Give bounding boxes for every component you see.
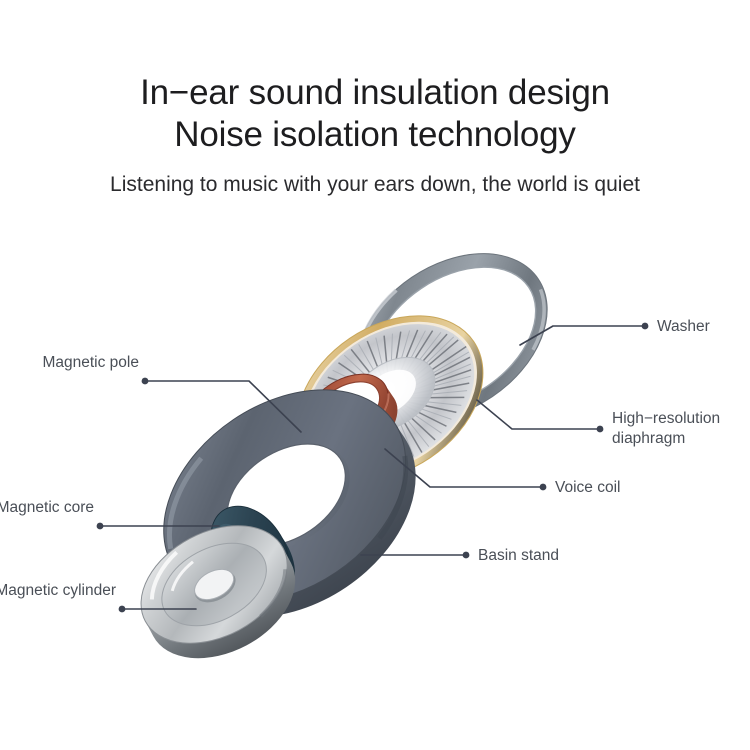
leader-dot-voice-coil bbox=[540, 484, 547, 491]
leader-dot-washer bbox=[642, 323, 649, 330]
callout-label-washer: Washer bbox=[657, 318, 710, 335]
callout-label-magnetic-pole: Magnetic pole bbox=[42, 354, 139, 371]
title-line-2: Noise isolation technology bbox=[0, 114, 750, 156]
exploded-diagram: Washer High−resolution diaphragm Voice c… bbox=[0, 215, 750, 685]
leader-dot-magnetic-pole bbox=[142, 378, 149, 385]
header: In−ear sound insulation design Noise iso… bbox=[0, 0, 750, 198]
callout-label-diaphragm-line-1: High−resolution bbox=[612, 410, 720, 427]
exploded-diagram-svg: Washer High−resolution diaphragm Voice c… bbox=[0, 215, 750, 685]
callout-label-magnetic-cylinder: Magnetic cylinder bbox=[0, 582, 116, 599]
callout-basin-stand[interactable]: Basin stand bbox=[361, 547, 559, 564]
callout-label-basin-stand: Basin stand bbox=[478, 547, 559, 564]
leader-dot-diaphragm bbox=[597, 426, 604, 433]
product-feature-page: In−ear sound insulation design Noise iso… bbox=[0, 0, 750, 750]
leader-dot-magnetic-cylinder bbox=[119, 606, 126, 613]
title-line-1: In−ear sound insulation design bbox=[0, 72, 750, 114]
callout-label-voice-coil: Voice coil bbox=[555, 479, 620, 496]
leader-dot-magnetic-core bbox=[97, 523, 104, 530]
page-subtitle: Listening to music with your ears down, … bbox=[0, 172, 750, 198]
leader-line-diaphragm bbox=[477, 400, 598, 429]
callout-label-diaphragm-line-2: diaphragm bbox=[612, 430, 685, 447]
callout-diaphragm[interactable]: High−resolution diaphragm bbox=[477, 400, 720, 447]
callout-washer[interactable]: Washer bbox=[520, 318, 710, 345]
callout-label-magnetic-core: Magnetic core bbox=[0, 499, 94, 516]
page-title: In−ear sound insulation design Noise iso… bbox=[0, 0, 750, 156]
leader-dot-basin-stand bbox=[463, 552, 470, 559]
